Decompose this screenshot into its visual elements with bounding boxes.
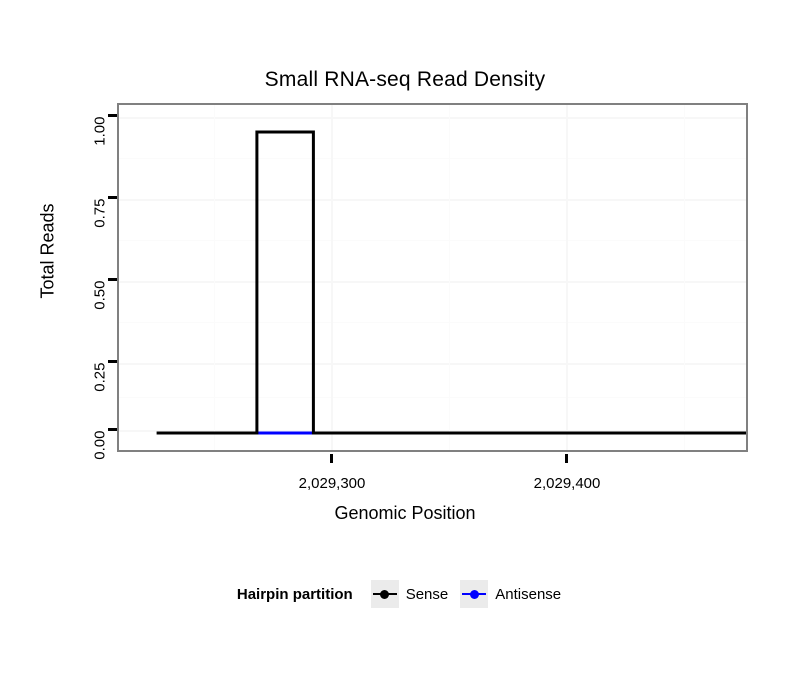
y-tick-mark-1.00 [108, 114, 117, 117]
plot-panel [117, 103, 748, 452]
y-tick-label-0.25: 0.25 [92, 363, 109, 433]
series-svg [119, 105, 746, 450]
panel-inner [119, 105, 746, 450]
x-tick-label-2029300: 2,029,300 [252, 475, 412, 492]
chart-title: Small RNA-seq Read Density [0, 68, 810, 92]
y-tick-mark-0.00 [108, 428, 117, 431]
y-tick-mark-0.25 [108, 360, 117, 363]
y-tick-label-0.50: 0.50 [92, 281, 109, 351]
y-tick-label-0.75: 0.75 [92, 199, 109, 269]
point-icon [470, 590, 479, 599]
y-tick-label-1.00: 1.00 [92, 117, 109, 187]
x-tick-mark-2029300 [330, 454, 333, 463]
data-series-layer [119, 105, 746, 450]
y-axis-title: Total Reads [38, 279, 59, 299]
legend-key-sense [371, 580, 399, 608]
y-tick-mark-0.75 [108, 196, 117, 199]
y-tick-label-0.00: 0.00 [92, 431, 109, 501]
legend-title: Hairpin partition [237, 586, 353, 603]
x-axis-title: Genomic Position [0, 503, 810, 524]
legend-key-antisense [460, 580, 488, 608]
legend-entry-antisense[interactable]: Antisense [460, 580, 561, 608]
legend-label-antisense: Antisense [495, 586, 561, 603]
point-icon [380, 590, 389, 599]
y-tick-mark-0.50 [108, 278, 117, 281]
legend-entry-sense[interactable]: Sense [371, 580, 449, 608]
x-tick-mark-2029400 [565, 454, 568, 463]
series-sense [157, 132, 746, 433]
legend: Hairpin partition Sense Antisense [0, 580, 810, 608]
legend-label-sense: Sense [406, 586, 449, 603]
x-tick-label-2029400: 2,029,400 [487, 475, 647, 492]
